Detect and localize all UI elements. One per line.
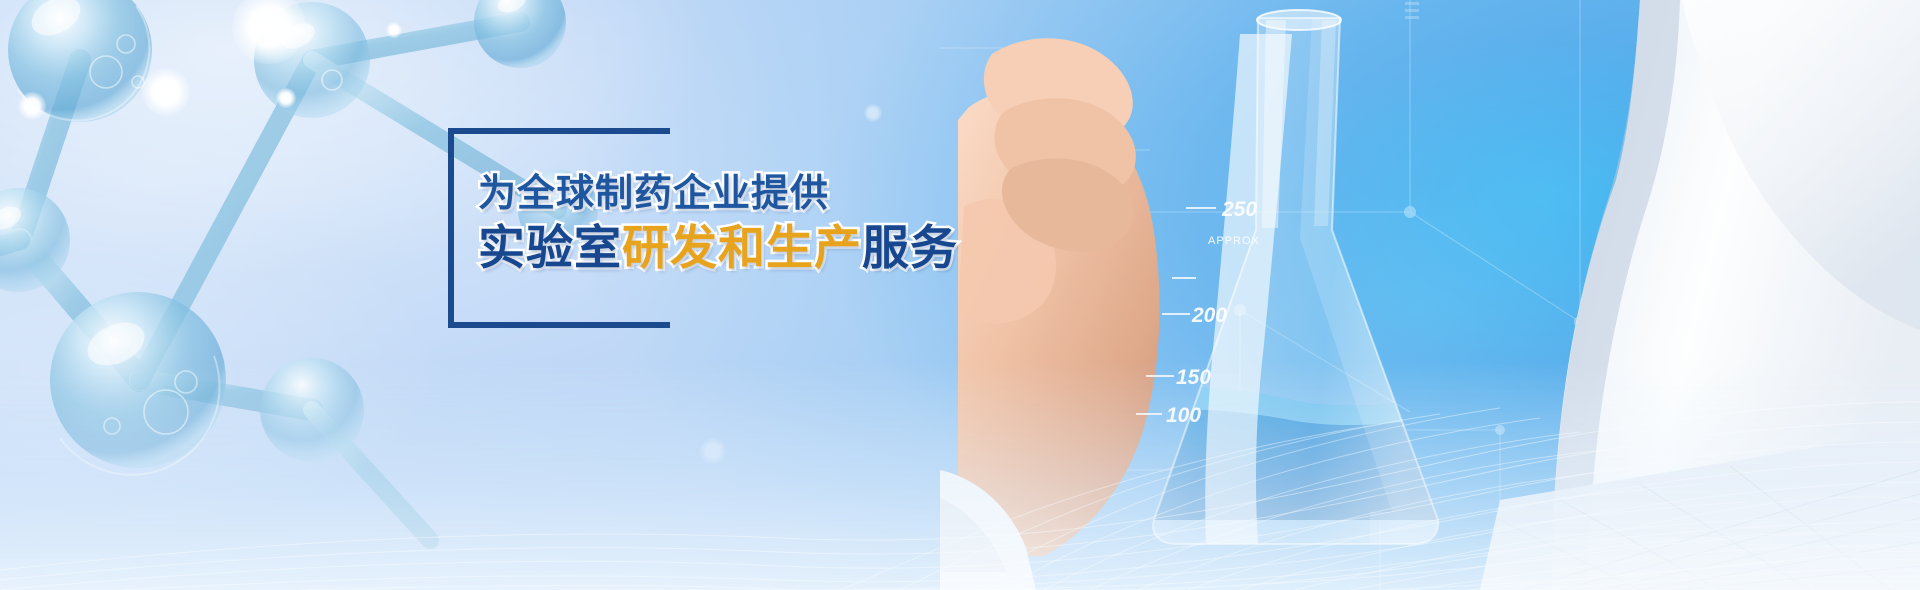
headline-line-2: 实验室研发和生产服务 <box>478 220 998 275</box>
bottom-fade <box>0 360 1920 590</box>
bokeh-light <box>276 88 296 108</box>
headline-block: 为全球制药企业提供 实验室研发和生产服务 <box>448 128 968 338</box>
headline-line-1: 为全球制药企业提供 <box>478 172 998 217</box>
bokeh-light <box>386 22 402 38</box>
bokeh-light <box>864 104 882 122</box>
svg-text:APPROX: APPROX <box>1208 235 1260 247</box>
headline-lines: 为全球制药企业提供 实验室研发和生产服务 <box>478 172 998 275</box>
svg-text:200: 200 <box>1191 304 1227 327</box>
svg-text:250: 250 <box>1221 198 1257 221</box>
headline-line-2-part-1: 实验室 <box>478 221 622 274</box>
headline-line-2-part-2: 研发和生产 <box>622 221 862 274</box>
bokeh-light <box>142 68 190 116</box>
headline-line-2-part-3: 服务 <box>862 221 958 274</box>
bokeh-light <box>18 92 46 120</box>
hero-banner: 250 APPROX 200 150 100 <box>0 0 1920 590</box>
